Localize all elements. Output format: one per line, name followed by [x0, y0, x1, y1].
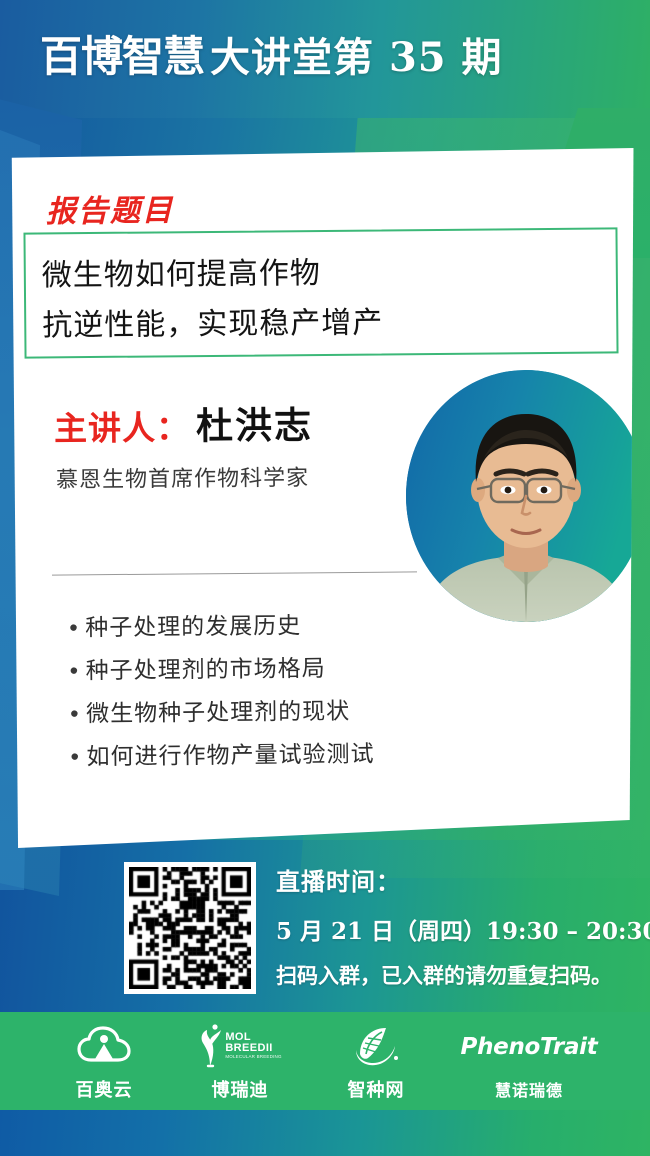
report-title-label: 报告题目 [46, 185, 175, 231]
partner-phenotrait[interactable]: PhenoTrait 慧诺瑞德 [444, 1021, 614, 1101]
agenda-item-label: 如何进行作物产量试验测试 [86, 741, 374, 770]
live-datetime: 5 月 21 日（周四）19:30 – 20:30 [276, 912, 642, 946]
partner-zhizhongwang[interactable]: 智种网 [308, 1020, 444, 1102]
phenotrait-text: PhenoTrait [461, 1034, 598, 1060]
report-title-box: 微生物如何提高作物 抗逆性能，实现稳产增产 [23, 227, 618, 358]
speaker-avatar [406, 370, 646, 622]
bullet-icon: • [69, 615, 85, 641]
webinar-poster: 百博智慧大讲堂第 35 期 报告题目 微生物如何提高作物 抗逆性能，实现稳产增产… [0, 0, 650, 1156]
list-item: • 微生物种子处理剂的现状 [70, 698, 374, 727]
card-divider [52, 571, 417, 575]
molbreedii-line-3: MOLECULAR BREEDING [225, 1055, 281, 1060]
list-item: • 如何进行作物产量试验测试 [70, 741, 374, 770]
brand-name: 百博智慧 [40, 32, 204, 81]
portrait-illustration [406, 370, 646, 622]
content-card: 报告题目 微生物如何提高作物 抗逆性能，实现稳产增产 主讲人：杜洪志 慕恩生物首… [8, 148, 636, 848]
agenda-item-label: 种子处理剂的市场格局 [86, 656, 326, 685]
agenda-item-label: 微生物种子处理剂的现状 [86, 699, 350, 728]
report-title-line-1: 微生物如何提高作物 [42, 248, 321, 294]
scan-note: 扫码入群，已入群的请勿重复扫码。 [276, 960, 642, 990]
qr-code[interactable] [124, 862, 256, 994]
partner-baiaoyun[interactable]: 百奥云 [36, 1020, 172, 1102]
list-item: • 种子处理剂的市场格局 [70, 655, 374, 684]
bullet-icon: • [70, 658, 86, 684]
speaker-affiliation: 慕恩生物首席作物科学家 [56, 460, 309, 494]
partner-footer: 百奥云 MOL BREEDII MOLECULAR BREEDING [0, 1012, 650, 1110]
bullet-icon: • [70, 701, 86, 727]
partner-name-label: 智种网 [348, 1076, 405, 1102]
series-name: 大讲堂第 35 期 [210, 34, 503, 81]
live-info-block: 直播时间： 5 月 21 日（周四）19:30 – 20:30 扫码入群，已入群… [276, 862, 642, 990]
poster-header-title: 百博智慧大讲堂第 35 期 [40, 36, 503, 78]
bottom-gradient-strip [0, 1110, 650, 1156]
report-title-line-2: 抗逆性能，实现稳产增产 [42, 297, 383, 344]
partner-name-label: 百奥云 [76, 1076, 133, 1102]
partner-name-label: 慧诺瑞德 [495, 1077, 563, 1101]
speaker-label: 主讲人： [54, 408, 190, 448]
cloud-mountain-icon [77, 1020, 131, 1072]
phenotrait-wordmark: PhenoTrait [461, 1021, 598, 1073]
corn-leaf-icon [352, 1020, 400, 1072]
list-item: • 种子处理的发展历史 [69, 612, 373, 641]
speaker-row: 主讲人：杜洪志 [54, 395, 313, 451]
live-time-heading: 直播时间： [276, 862, 642, 897]
agenda-list: • 种子处理的发展历史 • 种子处理剂的市场格局 • 微生物种子处理剂的现状 •… [69, 612, 375, 787]
agenda-item-label: 种子处理的发展历史 [85, 613, 301, 641]
speaker-name: 杜洪志 [196, 404, 313, 448]
qr-code-canvas [129, 867, 251, 989]
partner-molbreedii[interactable]: MOL BREEDII MOLECULAR BREEDING 博瑞迪 [172, 1020, 308, 1102]
molbreedii-icon: MOL BREEDII MOLECULAR BREEDING [198, 1020, 281, 1072]
partner-name-label: 博瑞迪 [212, 1076, 269, 1102]
molbreedii-line-2: BREEDII [225, 1043, 281, 1054]
bullet-icon: • [70, 744, 86, 770]
